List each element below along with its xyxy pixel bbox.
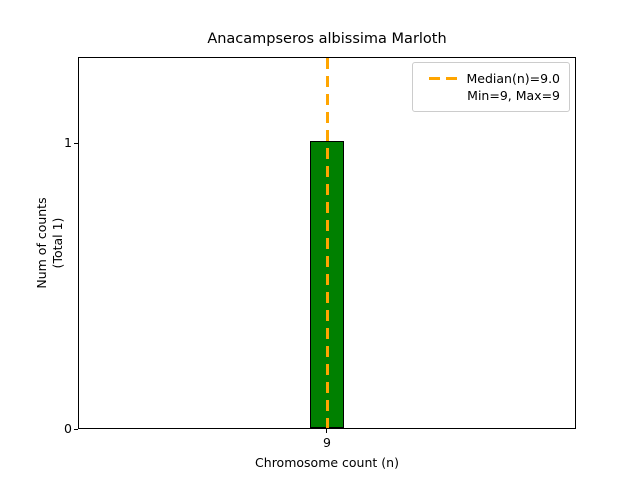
x-tick-label-9: 9 — [307, 436, 347, 450]
y-axis-label-total: (Total 1) — [51, 57, 65, 429]
y-tick-mark-0 — [74, 429, 78, 430]
legend-row-median: Median(n)=9.0 — [421, 70, 560, 87]
dashed-line-icon — [429, 70, 458, 87]
chart-figure: Anacampseros albissima Marloth 0 1 9 Chr… — [0, 0, 640, 480]
legend-row-minmax: Min=9, Max=9 — [421, 87, 560, 104]
median-line — [326, 58, 329, 428]
legend-label-median: Median(n)=9.0 — [467, 70, 561, 87]
y-axis-label: Num of counts — [35, 57, 49, 429]
legend-label-minmax: Min=9, Max=9 — [467, 87, 560, 104]
page-title: Anacampseros albissima Marloth — [78, 30, 576, 48]
legend: Median(n)=9.0 Min=9, Max=9 — [412, 62, 570, 112]
x-axis-label: Chromosome count (n) — [78, 455, 576, 470]
plot-area — [78, 57, 576, 429]
x-tick-mark-9 — [326, 429, 327, 433]
